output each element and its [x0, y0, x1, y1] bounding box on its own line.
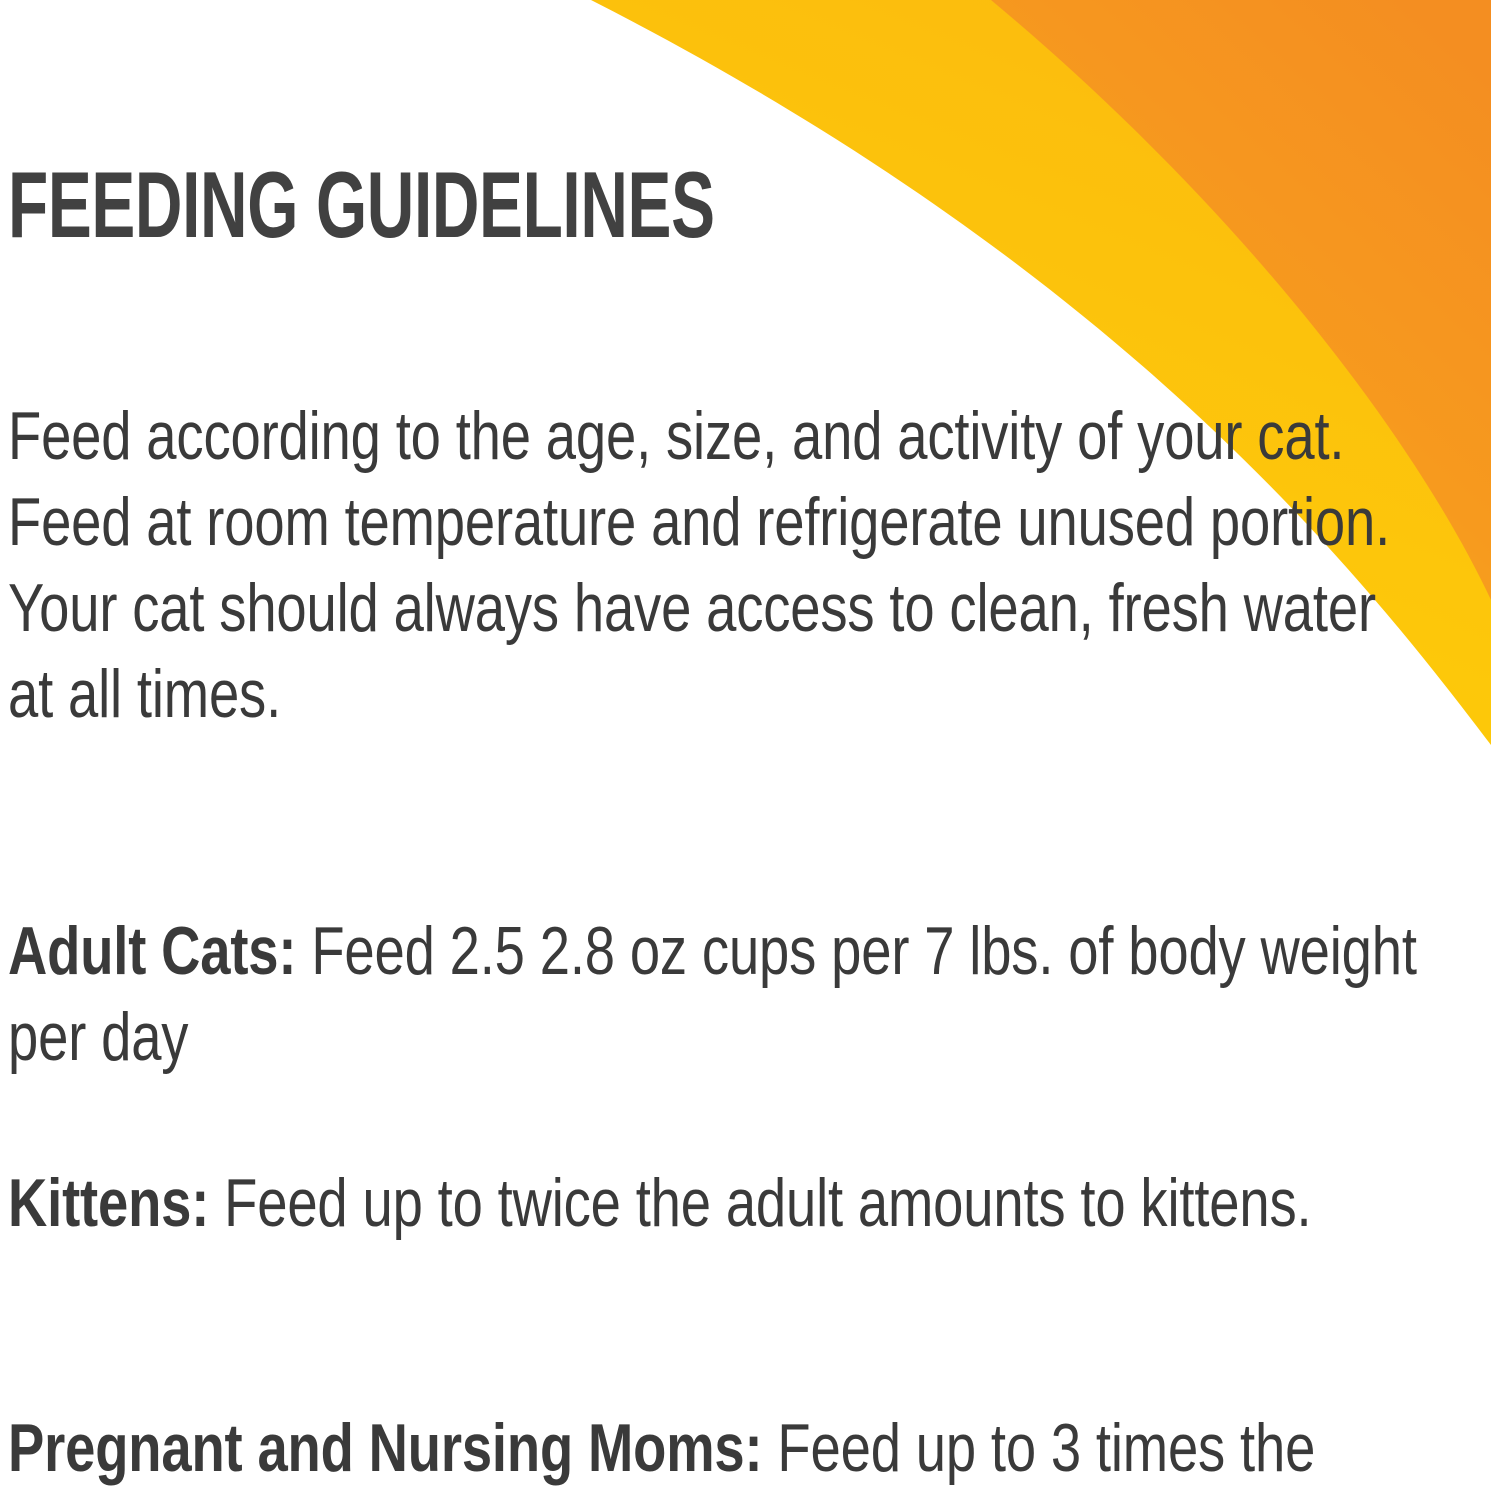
- feeding-guidelines-panel: FEEDING GUIDELINES Feed according to the…: [0, 0, 1491, 1500]
- kittens-text: Feed up to twice the adult amounts to ki…: [209, 1165, 1311, 1241]
- pregnant-nursing-lead: Pregnant and Nursing Moms:: [8, 1410, 762, 1486]
- page-title: FEEDING GUIDELINES: [8, 158, 715, 252]
- kittens-lead: Kittens:: [8, 1165, 209, 1241]
- adult-cats-paragraph: Adult Cats: Feed 2.5 2.8 oz cups per 7 l…: [8, 908, 1432, 1080]
- adult-cats-lead: Adult Cats:: [8, 913, 296, 989]
- intro-paragraph: Feed according to the age, size, and act…: [8, 393, 1432, 737]
- pregnant-nursing-paragraph: Pregnant and Nursing Moms: Feed up to 3 …: [8, 1405, 1432, 1500]
- kittens-paragraph: Kittens: Feed up to twice the adult amou…: [8, 1160, 1432, 1246]
